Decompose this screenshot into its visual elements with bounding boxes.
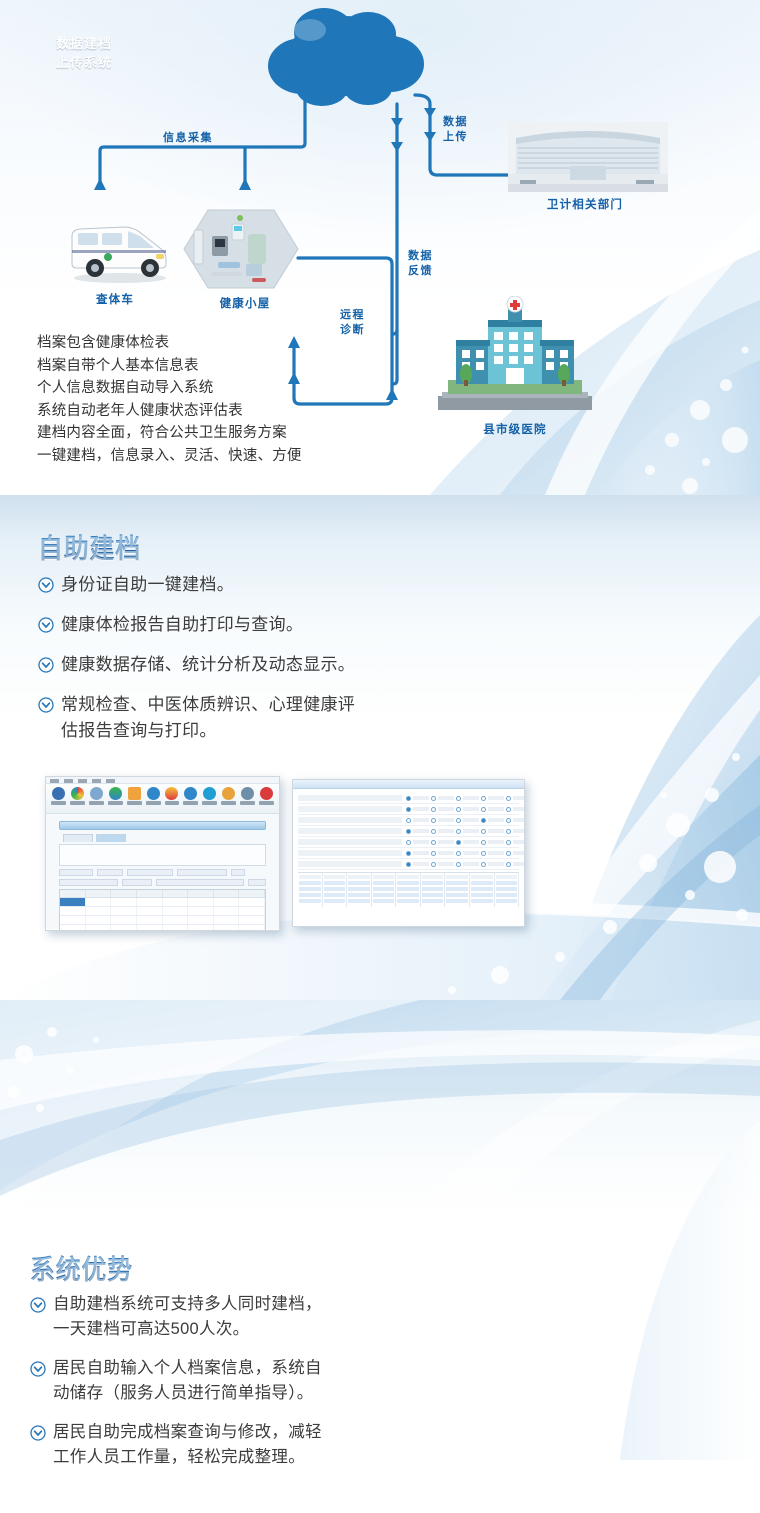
section2-title: 自助建档 — [38, 527, 141, 566]
table-row[interactable] — [60, 898, 265, 907]
toolbar-icon[interactable] — [126, 787, 143, 805]
county-hospital-image — [432, 296, 598, 416]
caption-hospital: 县市级医院 — [430, 421, 600, 437]
screenshot-archive-management-app[interactable] — [45, 776, 280, 931]
list-item: 居民自助完成档案查询与修改，减轻 工作人员工作量，轻松完成整理。 — [30, 1420, 480, 1470]
data-table[interactable] — [59, 889, 266, 931]
caption-hut: 健康小屋 — [185, 295, 305, 311]
list-item: 常规检查、中医体质辨识、心理健康评 估报告查询与打印。 — [38, 692, 508, 744]
cloud-label-line1: 数据建档 — [0, 34, 168, 53]
toolbar-icon[interactable] — [239, 787, 256, 805]
toolbar-icon[interactable] — [258, 787, 275, 805]
cloud-shape — [262, 4, 430, 112]
toolbar-icon[interactable] — [182, 787, 199, 805]
poster-page: 数据建档 上传系统 信息采集 数据 上传 数据 反馈 远程 诊断 — [0, 0, 760, 1513]
filter-panel[interactable] — [59, 844, 266, 866]
grid-column[interactable] — [347, 873, 372, 907]
grid-column[interactable] — [298, 873, 323, 907]
caption-dept: 卫计相关部门 — [500, 196, 670, 212]
list-item-label: 身份证自助一键建档。 — [61, 572, 234, 598]
chevron-down-circle-icon — [30, 1361, 46, 1377]
grid-column[interactable] — [421, 873, 446, 907]
toolbar-icon[interactable] — [201, 787, 218, 805]
section-architecture-diagram: 数据建档 上传系统 信息采集 数据 上传 数据 反馈 远程 诊断 — [0, 0, 760, 495]
feature-line: 一键建档，信息录入、灵活、快速、方便 — [37, 445, 302, 468]
list-item-label: 居民自助输入个人档案信息，系统自 动储存（服务人员进行简单指导）。 — [53, 1356, 322, 1406]
list-item: 健康体检报告自助打印与查询。 — [38, 612, 508, 638]
caption-van: 查体车 — [60, 291, 170, 307]
feature-line: 系统自动老年人健康状态评估表 — [37, 400, 302, 423]
grid-column[interactable] — [323, 873, 348, 907]
health-hut-image — [182, 206, 300, 292]
tab-strip[interactable] — [63, 834, 276, 842]
list-item-label: 健康体检报告自助打印与查询。 — [61, 612, 303, 638]
list-item-label: 健康数据存储、统计分析及动态显示。 — [61, 652, 355, 678]
section3-title: 系统优势 — [30, 1248, 133, 1287]
grid-column[interactable] — [470, 873, 495, 907]
feature-line: 档案自带个人基本信息表 — [37, 355, 302, 378]
flow-label-data-upload: 数据 上传 — [443, 115, 468, 145]
chevron-down-circle-icon — [38, 657, 54, 673]
list-item: 自助建档系统可支持多人同时建档， 一天建档可高达500人次。 — [30, 1292, 480, 1342]
window-titlebar — [59, 821, 266, 830]
question-row[interactable] — [298, 804, 519, 815]
form-body — [293, 789, 524, 926]
chevron-down-circle-icon — [30, 1297, 46, 1313]
flow-label-info-collection: 信息采集 — [163, 131, 213, 146]
table-row[interactable] — [60, 925, 265, 931]
feature-line: 建档内容全面，符合公共卫生服务方案 — [37, 422, 302, 445]
question-row[interactable] — [298, 848, 519, 859]
grid-column[interactable] — [372, 873, 397, 907]
question-row[interactable] — [298, 826, 519, 837]
question-row[interactable] — [298, 815, 519, 826]
question-row[interactable] — [298, 837, 519, 848]
question-row[interactable] — [298, 859, 519, 870]
toolbar-icon[interactable] — [145, 787, 162, 805]
tab-active[interactable] — [96, 834, 126, 842]
toolbar-icon[interactable] — [69, 787, 86, 805]
window-titlebar — [293, 780, 524, 789]
toolbar-icon[interactable] — [107, 787, 124, 805]
feature-line: 个人信息数据自动导入系统 — [37, 377, 302, 400]
toolbar-icon[interactable] — [220, 787, 237, 805]
form-row[interactable] — [59, 869, 266, 876]
list-item-label: 常规检查、中医体质辨识、心理健康评 估报告查询与打印。 — [61, 692, 355, 744]
assessment-grid[interactable] — [298, 872, 519, 907]
question-row[interactable] — [298, 793, 519, 804]
chevron-down-circle-icon — [38, 617, 54, 633]
health-authority-building-image — [508, 122, 668, 192]
form-row[interactable] — [59, 879, 266, 886]
table-header — [60, 890, 265, 898]
table-row[interactable] — [60, 907, 265, 916]
flow-label-remote-diagnosis: 远程 诊断 — [340, 308, 365, 338]
toolbar-icon[interactable] — [164, 787, 181, 805]
grid-column[interactable] — [495, 873, 520, 907]
chevron-down-circle-icon — [30, 1425, 46, 1441]
list-item-label: 自助建档系统可支持多人同时建档， 一天建档可高达500人次。 — [53, 1292, 322, 1342]
section3-bullet-list: 自助建档系统可支持多人同时建档， 一天建档可高达500人次。 居民自助输入个人档… — [30, 1292, 480, 1484]
app-menubar[interactable] — [46, 777, 279, 784]
cloud-label: 数据建档 上传系统 — [0, 34, 168, 72]
chevron-down-circle-icon — [38, 697, 54, 713]
screenshot-health-assessment-form[interactable] — [292, 779, 525, 927]
feature-line: 档案包含健康体检表 — [37, 332, 302, 355]
list-item: 健康数据存储、统计分析及动态显示。 — [38, 652, 508, 678]
table-row[interactable] — [60, 916, 265, 925]
app-body — [46, 814, 279, 929]
tab[interactable] — [63, 834, 93, 842]
toolbar-icon[interactable] — [88, 787, 105, 805]
section2-bullet-list: 身份证自助一键建档。 健康体检报告自助打印与查询。 健康数据存储、统计分析及动态… — [38, 572, 508, 758]
list-item: 居民自助输入个人档案信息，系统自 动储存（服务人员进行简单指导）。 — [30, 1356, 480, 1406]
cloud-label-line2: 上传系统 — [0, 53, 168, 72]
chevron-down-circle-icon — [38, 577, 54, 593]
medical-van-image — [62, 212, 174, 284]
list-item: 身份证自助一键建档。 — [38, 572, 508, 598]
flow-label-data-feedback: 数据 反馈 — [408, 249, 433, 279]
list-item-label: 居民自助完成档案查询与修改，减轻 工作人员工作量，轻松完成整理。 — [53, 1420, 322, 1470]
app-toolbar[interactable] — [46, 784, 279, 814]
toolbar-icon[interactable] — [50, 787, 67, 805]
grid-column[interactable] — [396, 873, 421, 907]
feature-text-block: 档案包含健康体检表 档案自带个人基本信息表 个人信息数据自动导入系统 系统自动老… — [37, 332, 302, 467]
grid-column[interactable] — [445, 873, 470, 907]
